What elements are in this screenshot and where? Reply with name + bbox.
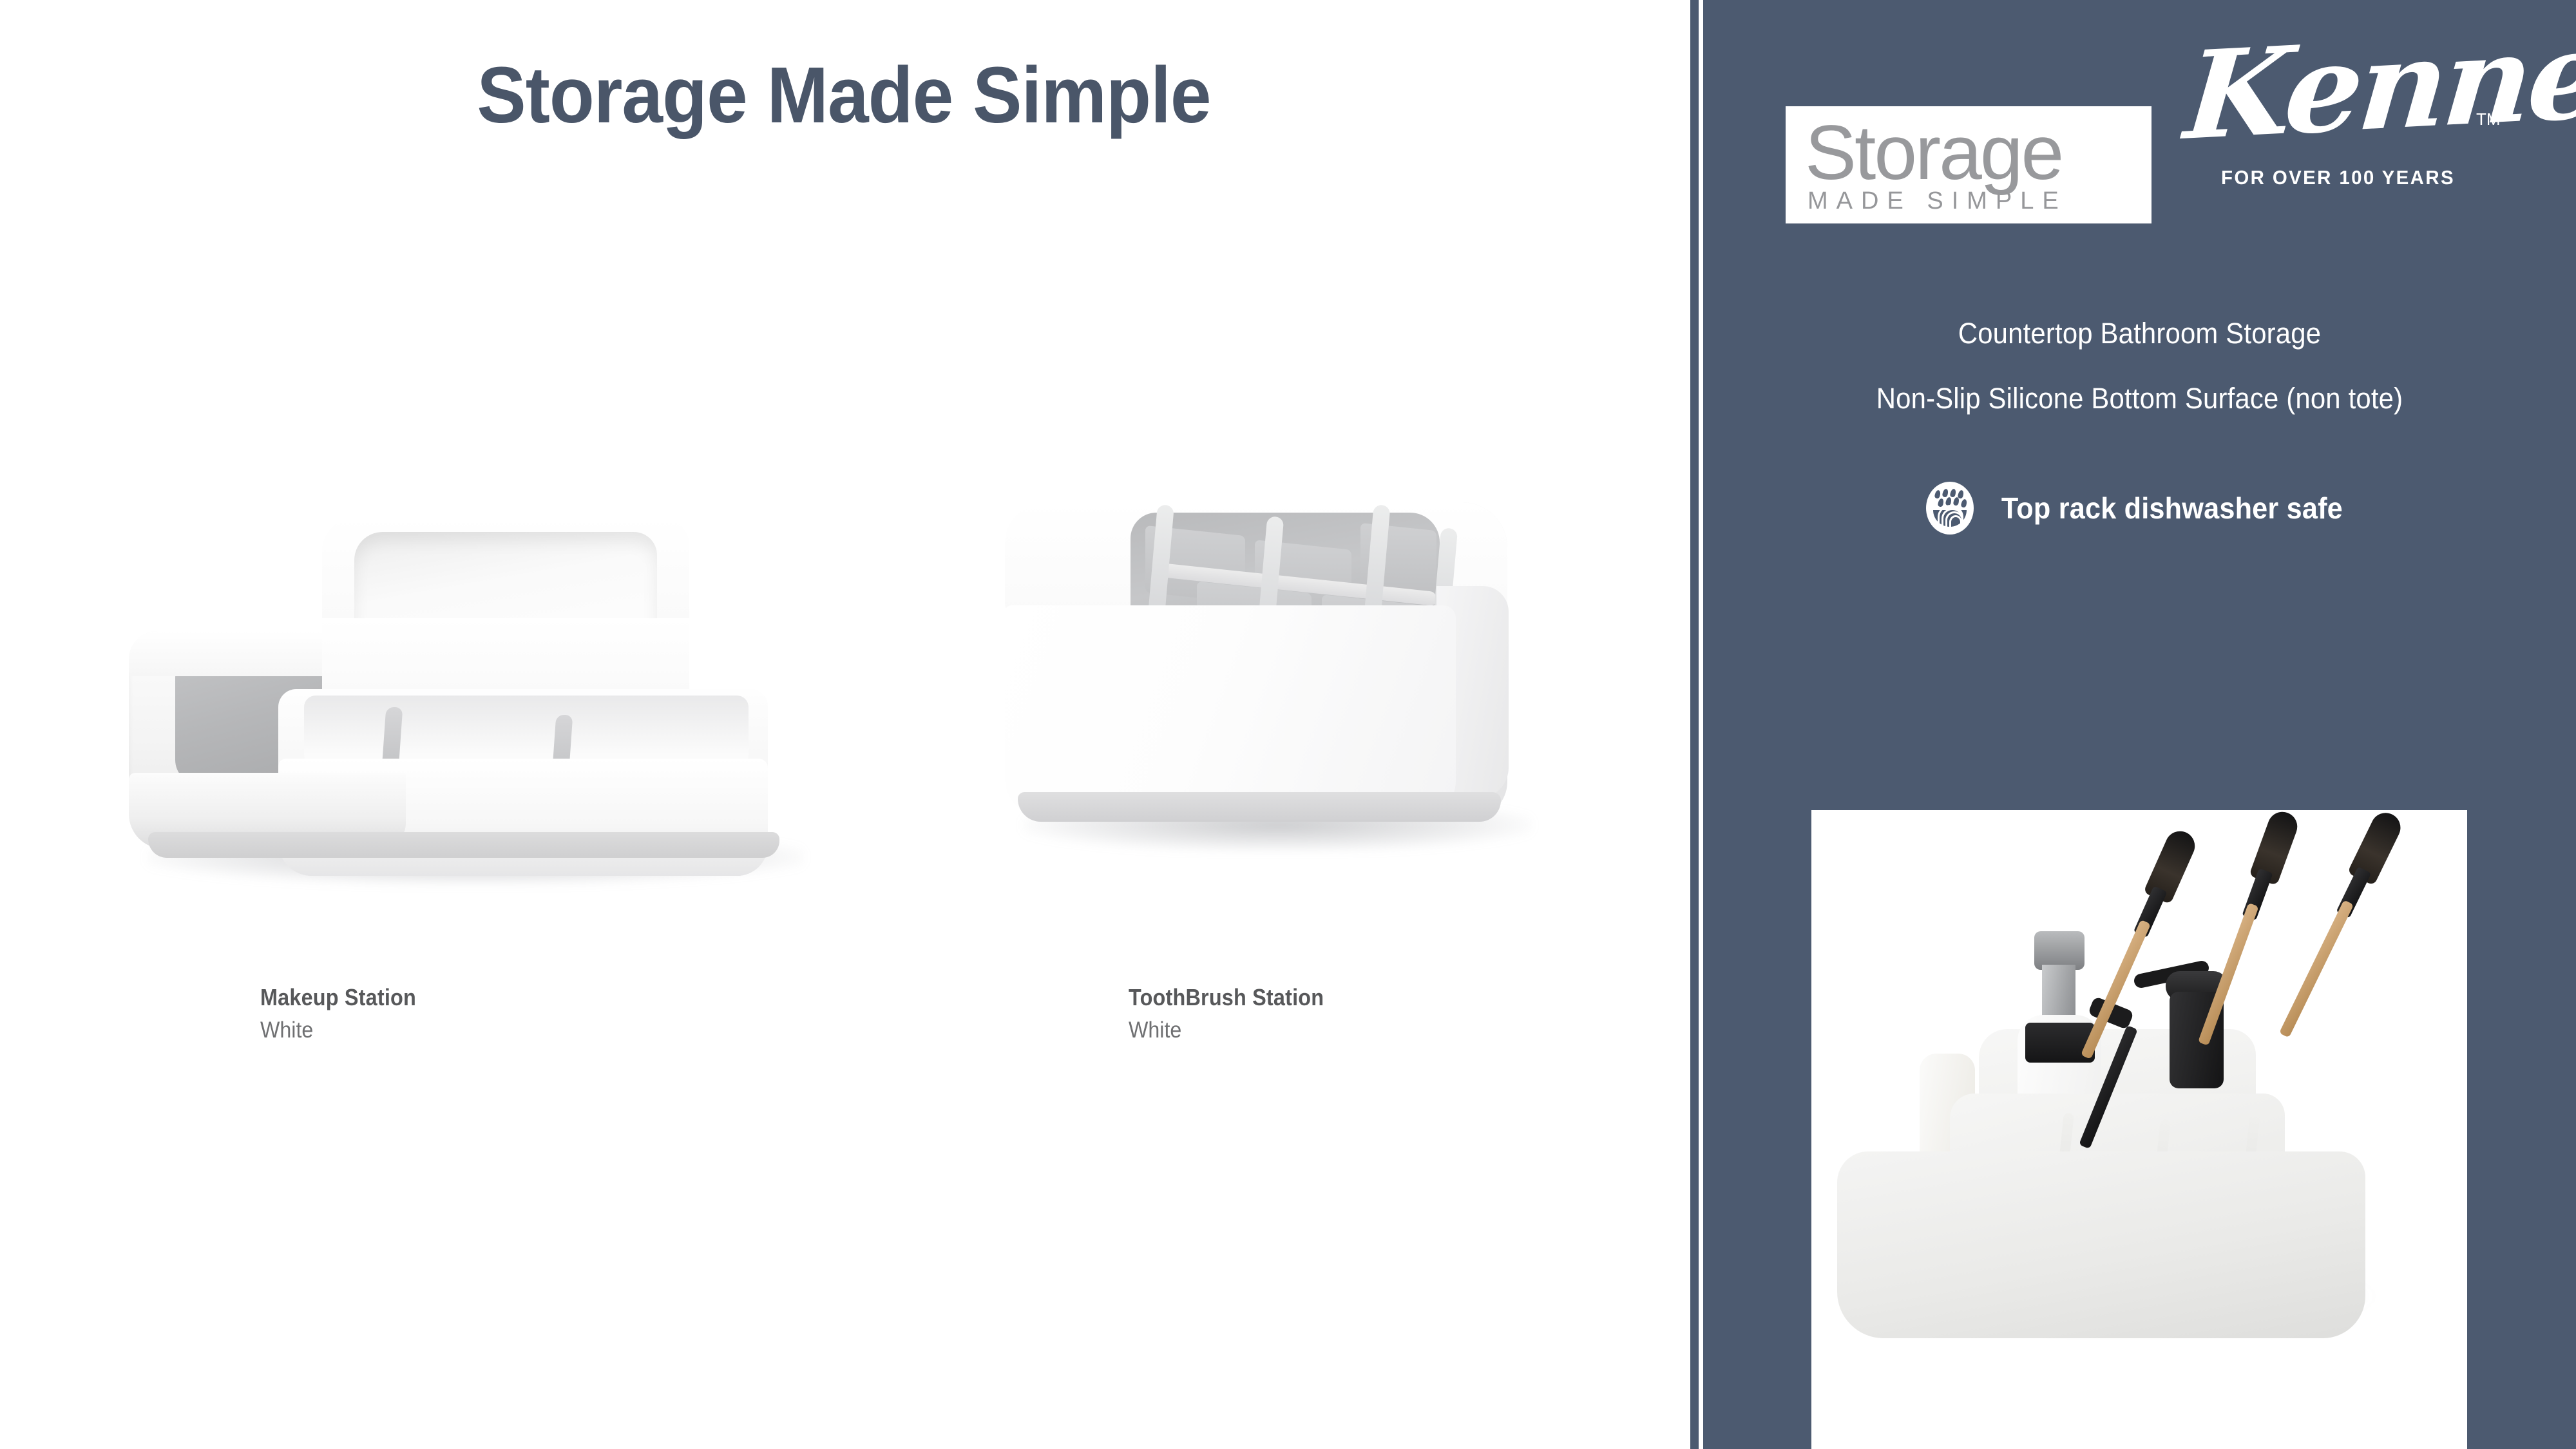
- feature-line-1: Countertop Bathroom Storage: [1733, 319, 2545, 348]
- page-title: Storage Made Simple: [59, 50, 1629, 141]
- toothbrush-station-product-photo: [992, 477, 1572, 902]
- trademark-symbol: TM: [2476, 109, 2501, 129]
- kenney-script-wordmark: Kenney: [2181, 11, 2576, 157]
- product-color: White: [260, 1018, 419, 1043]
- product-name: Makeup Station: [260, 984, 416, 1011]
- dishwasher-safe-icon: [1926, 482, 1974, 535]
- makeup-station-lifestyle-photo: [1811, 810, 2467, 1449]
- product-color: White: [1129, 1018, 1328, 1043]
- feature-list: Countertop Bathroom Storage Non-Slip Sil…: [1703, 319, 2576, 413]
- storage-logo-word: Storage: [1805, 114, 2062, 191]
- lifestyle-photo-card: [1811, 810, 2467, 1449]
- left-content-panel: Storage Made Simple Makeup Station White: [0, 0, 1690, 1449]
- panel-divider: [1690, 0, 1699, 1449]
- info-sidebar-panel: Storage MADE SIMPLE Kenney TM FOR OVER 1…: [1703, 0, 2576, 1449]
- toothbrush-station-caption: ToothBrush Station White: [1129, 984, 1346, 1043]
- organizer-tray-front: [1837, 1151, 2365, 1338]
- silicone-base-pad: [1018, 792, 1501, 822]
- product-name: ToothBrush Station: [1129, 984, 1324, 1011]
- storage-logo-subtitle: MADE SIMPLE: [1808, 189, 2067, 213]
- dishwasher-safe-row: Top rack dishwasher safe: [1703, 482, 2576, 535]
- makeup-station-product-photo: [129, 502, 850, 914]
- feature-line-2: Non-Slip Silicone Bottom Surface (non to…: [1733, 384, 2545, 413]
- kenney-tagline: FOR OVER 100 YEARS: [2221, 166, 2455, 189]
- kenney-logo: Kenney TM FOR OVER 100 YEARS: [2154, 31, 2553, 211]
- caddy-front-wall: [1005, 605, 1456, 818]
- dishwasher-safe-label: Top rack dishwasher safe: [2001, 491, 2342, 526]
- storage-made-simple-logo: Storage MADE SIMPLE: [1786, 106, 2151, 223]
- silicone-base-pad: [148, 832, 779, 858]
- logo-row: Storage MADE SIMPLE Kenney TM FOR OVER 1…: [1703, 0, 2576, 232]
- dispenser-cap: [2034, 931, 2085, 970]
- makeup-station-caption: Makeup Station White: [260, 984, 434, 1043]
